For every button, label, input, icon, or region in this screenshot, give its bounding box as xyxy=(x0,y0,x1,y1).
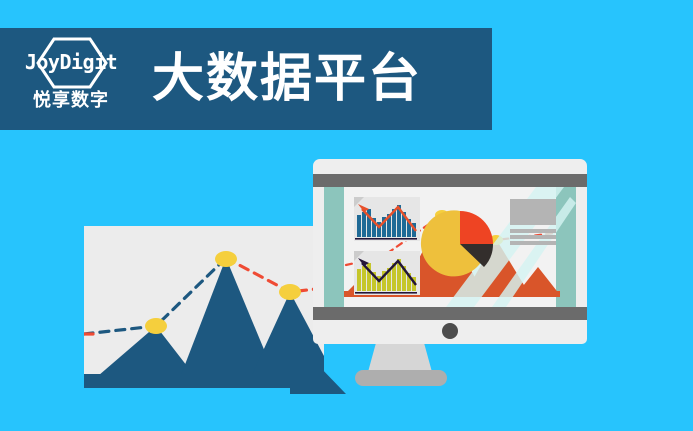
header-banner: JoyDigit 悦享数字 大数据平台 xyxy=(0,28,492,130)
monitor-power-indicator xyxy=(442,323,458,339)
logo-wordmark: JoyDigit xyxy=(25,50,117,74)
monitor-stand xyxy=(368,344,432,372)
text-line xyxy=(510,229,556,233)
data-marker xyxy=(145,318,167,334)
logo-subtitle: 悦享数字 xyxy=(33,86,109,112)
mountain-chart-svg xyxy=(84,226,324,388)
text-block-image xyxy=(510,199,556,225)
text-line xyxy=(510,235,556,239)
bar xyxy=(362,266,366,291)
monitor-screen xyxy=(324,187,576,307)
foreground-wedge xyxy=(290,336,346,394)
screenshot-root: JoyDigit 悦享数字 大数据平台 xyxy=(0,0,693,431)
bar xyxy=(357,215,361,237)
text-line xyxy=(510,241,556,245)
ground-band xyxy=(84,374,324,388)
blue-bar-chart-card xyxy=(354,197,420,241)
trend-line-red xyxy=(226,258,324,292)
bar xyxy=(362,212,366,237)
desktop-monitor xyxy=(313,159,587,344)
screen-content-svg xyxy=(324,187,576,307)
axis-line xyxy=(355,292,417,294)
screen-left-band xyxy=(324,187,344,307)
monitor-top-bar xyxy=(313,174,587,187)
bar xyxy=(357,269,361,291)
monitor-stand-base xyxy=(355,370,447,386)
data-marker xyxy=(279,284,301,300)
data-marker xyxy=(215,251,237,267)
mountain-chart-panel xyxy=(84,226,324,388)
page-title: 大数据平台 xyxy=(152,53,422,105)
yellow-bar-chart-card xyxy=(354,251,420,295)
text-block-widget xyxy=(510,199,556,245)
axis-line xyxy=(355,238,417,240)
monitor-bottom-bar xyxy=(313,307,587,320)
brand-logo: JoyDigit 悦享数字 xyxy=(12,35,130,123)
